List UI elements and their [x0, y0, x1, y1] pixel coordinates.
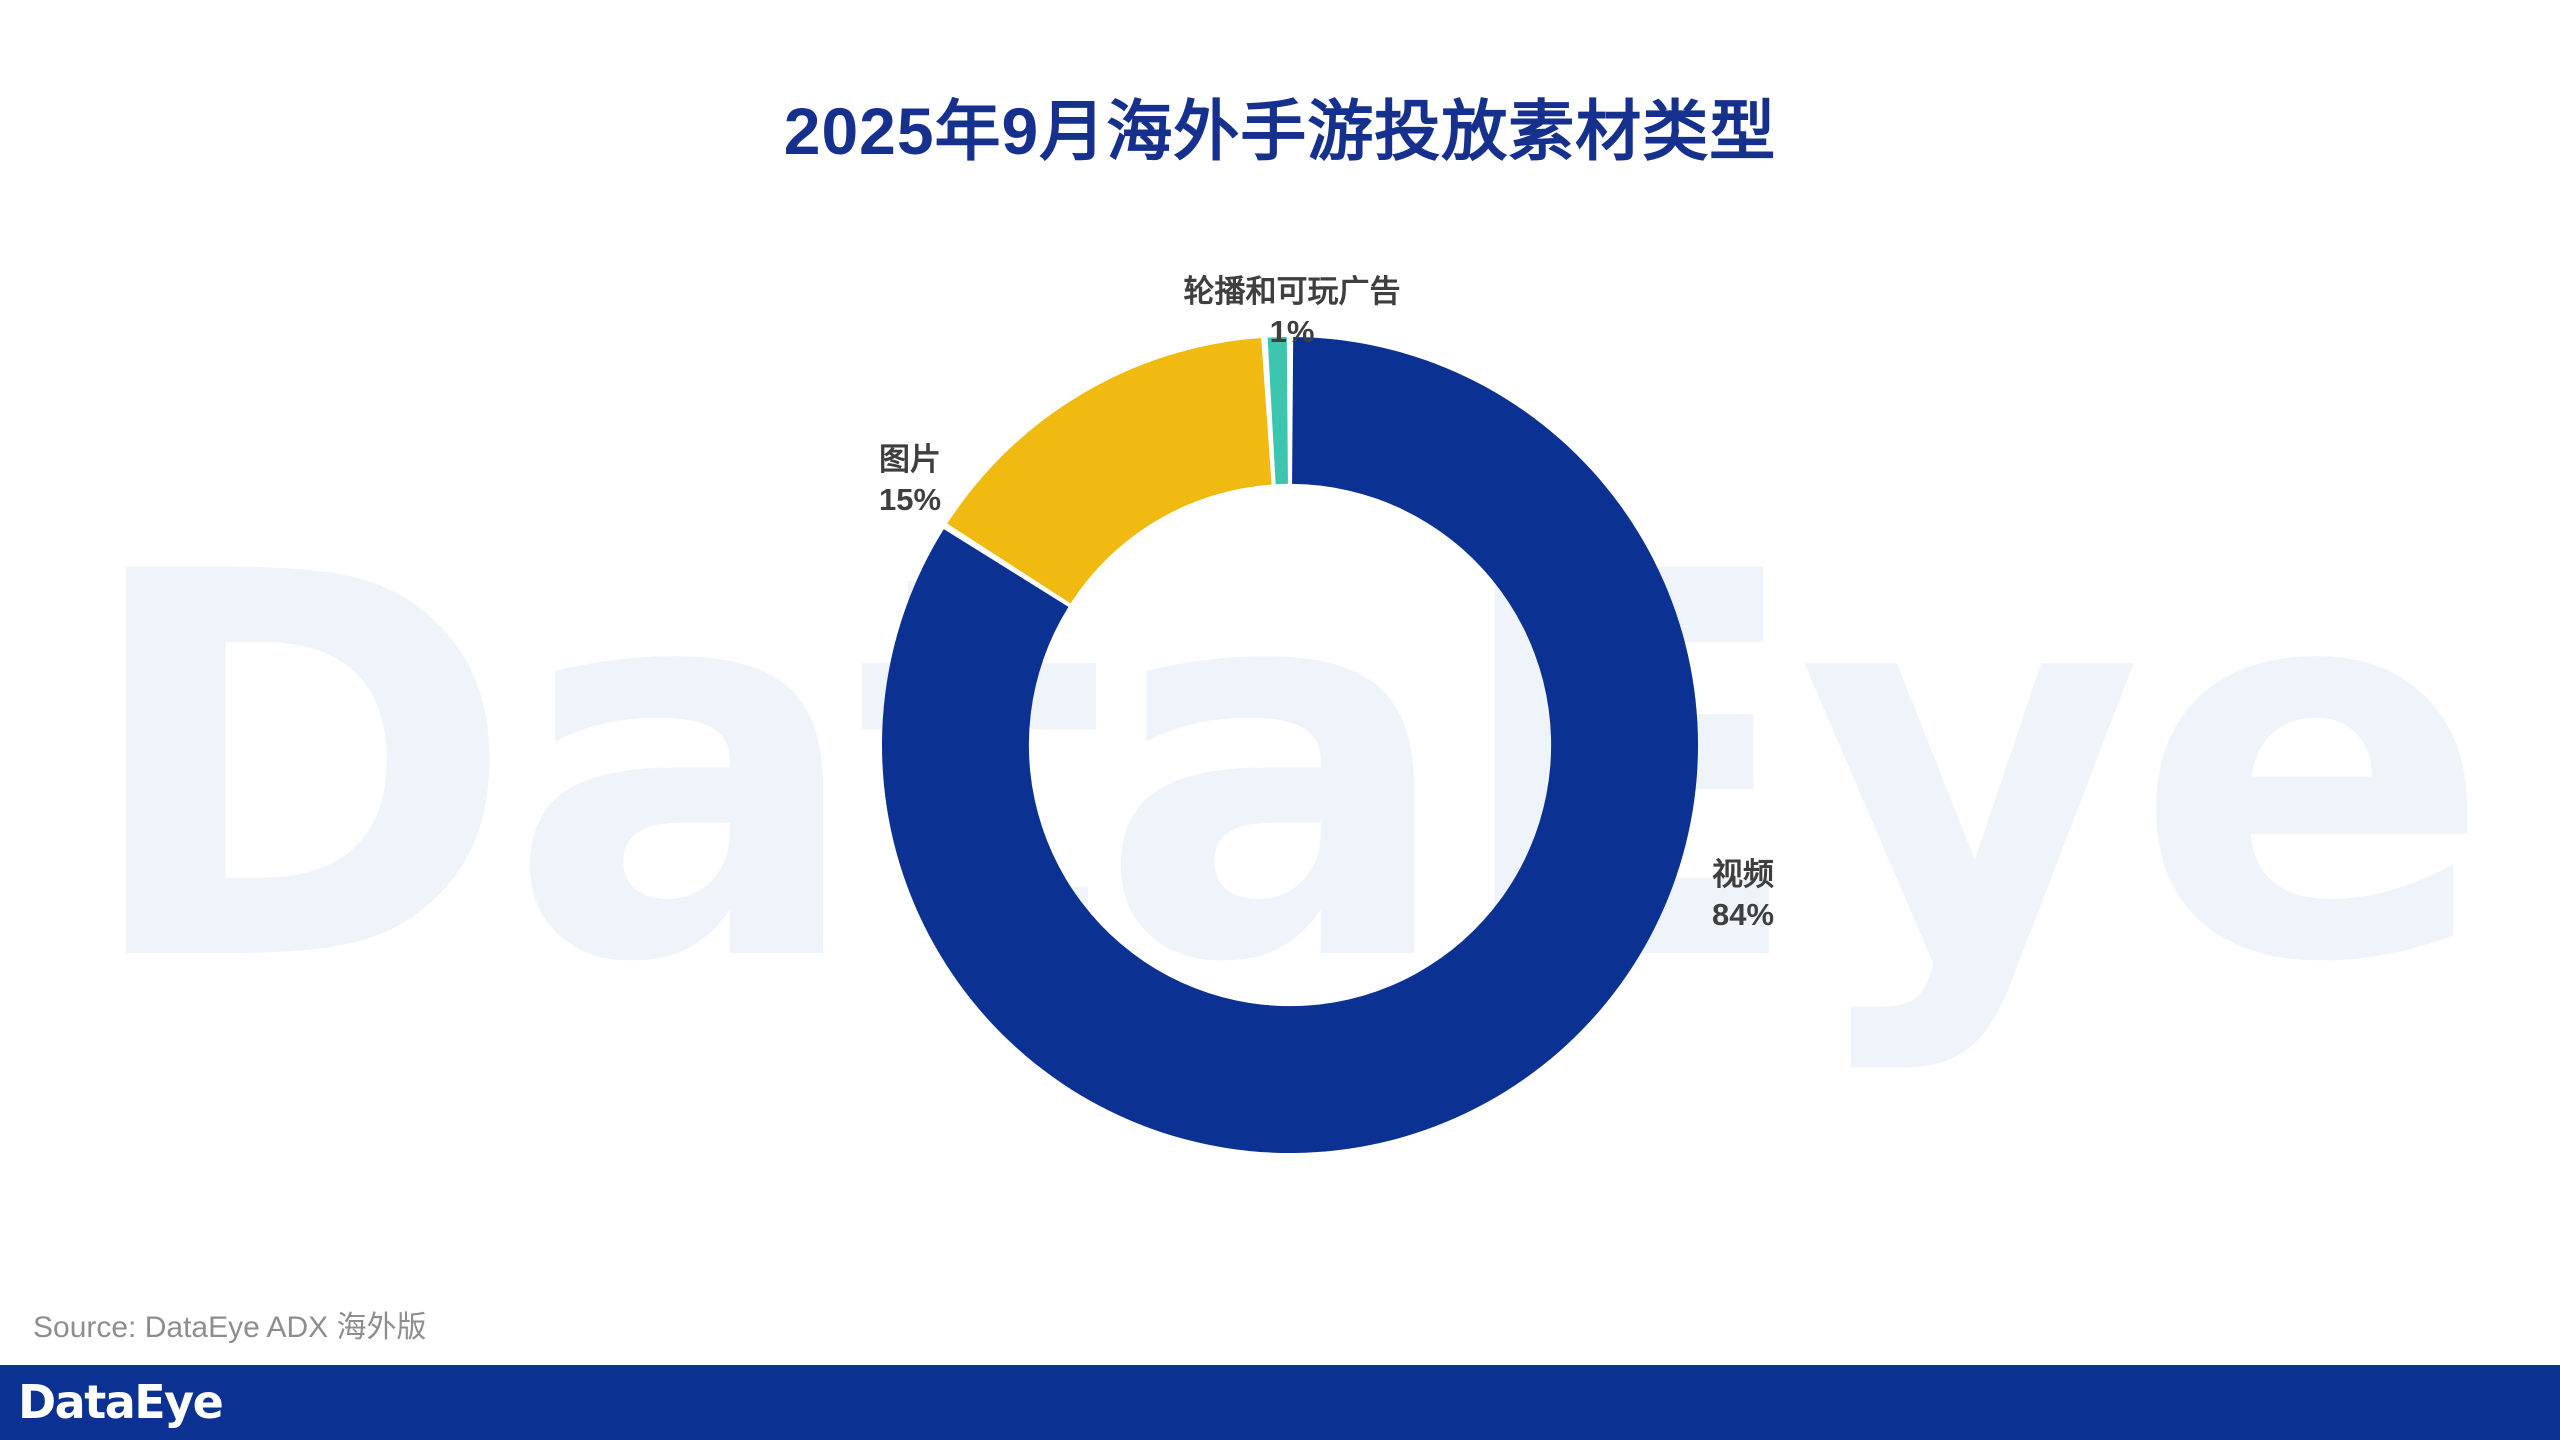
donut-chart: 视频 84% 图片 15% 轮播和可玩广告 1% [0, 0, 2560, 1320]
source-text: Source: DataEye ADX 海外版 [33, 1311, 427, 1344]
chart-title-text: 2025年9月海外手游投放素材类型 [784, 94, 1777, 168]
slice-label-video-value: 84% [1712, 895, 1920, 935]
page-title: 2025年9月海外手游投放素材类型 [0, 78, 2560, 174]
slice-label-carousel-name: 轮播和可玩广告 [1132, 272, 1452, 312]
footer-bar: DataEye [0, 1365, 2560, 1440]
slice-label-carousel-value: 1% [1132, 312, 1452, 352]
donut-slice-2[interactable] [1268, 337, 1288, 484]
donut-chart-svg [882, 337, 1698, 1153]
slice-label-video-name: 视频 [1712, 855, 1920, 895]
slice-label-image: 图片 15% [830, 440, 990, 519]
slice-label-image-name: 图片 [830, 440, 990, 480]
chart-page: DataEye 2025年9月海外手游投放素材类型 视频 84% 图片 15% … [0, 0, 2560, 1440]
footer-logo: DataEye [18, 1374, 222, 1430]
slice-label-carousel: 轮播和可玩广告 1% [1132, 272, 1452, 351]
slice-label-video: 视频 84% [1700, 855, 1920, 934]
source-note: Source: DataEye ADX 海外版 [33, 1302, 427, 1346]
slice-label-image-value: 15% [830, 480, 990, 520]
donut-slices [882, 337, 1698, 1153]
footer-logo-text: DataEye [18, 1375, 222, 1429]
